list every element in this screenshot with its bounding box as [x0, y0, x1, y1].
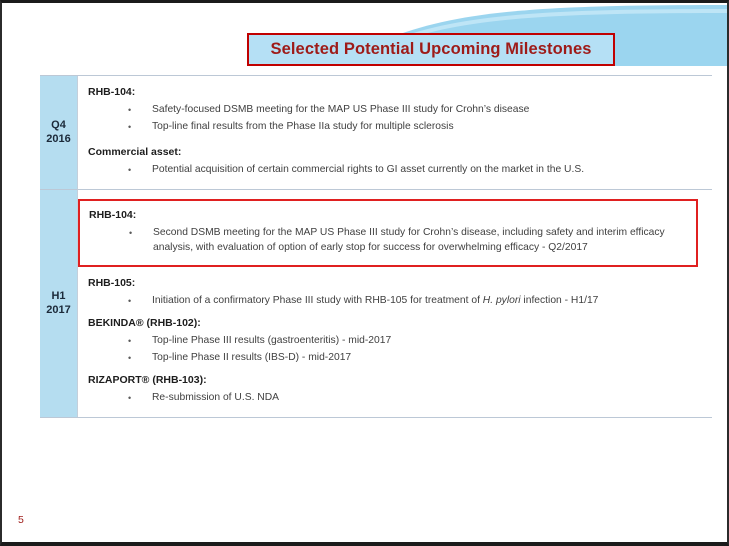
bullet-list: Safety-focused DSMB meeting for the MAP … — [88, 102, 706, 134]
period-line-2: 2017 — [46, 303, 70, 317]
period-line-1: Q4 — [51, 118, 66, 132]
page-title: Selected Potential Upcoming Milestones — [270, 40, 591, 59]
milestone-group-rhb105: RHB-105: Initiation of a confirmatory Ph… — [88, 276, 706, 309]
list-item: Potential acquisition of certain commerc… — [88, 162, 706, 178]
period-line-2: 2016 — [46, 132, 70, 146]
list-item: Top-line Phase II results (IBS-D) - mid-… — [88, 350, 706, 366]
slide-canvas: Selected Potential Upcoming Milestones Q… — [0, 0, 729, 546]
list-item: Top-line final results from the Phase II… — [88, 119, 706, 135]
group-heading: RHB-104: — [88, 85, 706, 100]
period-cell-q4-2016: Q4 2016 — [40, 76, 78, 189]
milestone-group-commercial-asset: Commercial asset: Potential acquisition … — [88, 145, 706, 178]
milestone-group-rizaport: RIZAPORT® (RHB-103): Re-submission of U.… — [88, 373, 706, 406]
list-item: Re-submission of U.S. NDA — [88, 390, 706, 406]
group-heading: BEKINDA® (RHB-102): — [88, 316, 706, 331]
bullet-list: Re-submission of U.S. NDA — [88, 390, 706, 406]
bullet-list: Second DSMB meeting for the MAP US Phase… — [89, 225, 688, 256]
group-heading: RHB-104: — [89, 208, 688, 223]
milestones-table: Q4 2016 RHB-104: Safety-focused DSMB mee… — [40, 75, 712, 418]
list-item: Safety-focused DSMB meeting for the MAP … — [88, 102, 706, 118]
period-line-1: H1 — [51, 289, 65, 303]
table-row: H1 2017 RHB-104: Second DSMB meeting for… — [40, 189, 712, 417]
slide-title-box: Selected Potential Upcoming Milestones — [247, 33, 615, 66]
group-spacer — [88, 138, 706, 145]
period-cell-h1-2017: H1 2017 — [40, 189, 78, 417]
bullet-list: Initiation of a confirmatory Phase III s… — [88, 293, 706, 309]
group-heading: RHB-105: — [88, 276, 706, 291]
list-item: Second DSMB meeting for the MAP US Phase… — [89, 225, 688, 256]
page-number: 5 — [18, 514, 24, 526]
group-heading: RIZAPORT® (RHB-103): — [88, 373, 706, 388]
row-content-h1-2017: RHB-104: Second DSMB meeting for the MAP… — [78, 189, 712, 417]
list-item: Top-line Phase III results (gastroenteri… — [88, 333, 706, 349]
highlighted-milestone-callout: RHB-104: Second DSMB meeting for the MAP… — [78, 199, 698, 267]
milestone-group-rhb104-2016: RHB-104: Safety-focused DSMB meeting for… — [88, 85, 706, 134]
table-row: Q4 2016 RHB-104: Safety-focused DSMB mee… — [40, 76, 712, 189]
list-item: Initiation of a confirmatory Phase III s… — [88, 293, 706, 309]
milestone-group-bekinda: BEKINDA® (RHB-102): Top-line Phase III r… — [88, 316, 706, 365]
row-content-q4-2016: RHB-104: Safety-focused DSMB meeting for… — [78, 76, 712, 189]
bullet-list: Potential acquisition of certain commerc… — [88, 162, 706, 178]
bullet-list: Top-line Phase III results (gastroenteri… — [88, 333, 706, 365]
group-heading: Commercial asset: — [88, 145, 706, 160]
